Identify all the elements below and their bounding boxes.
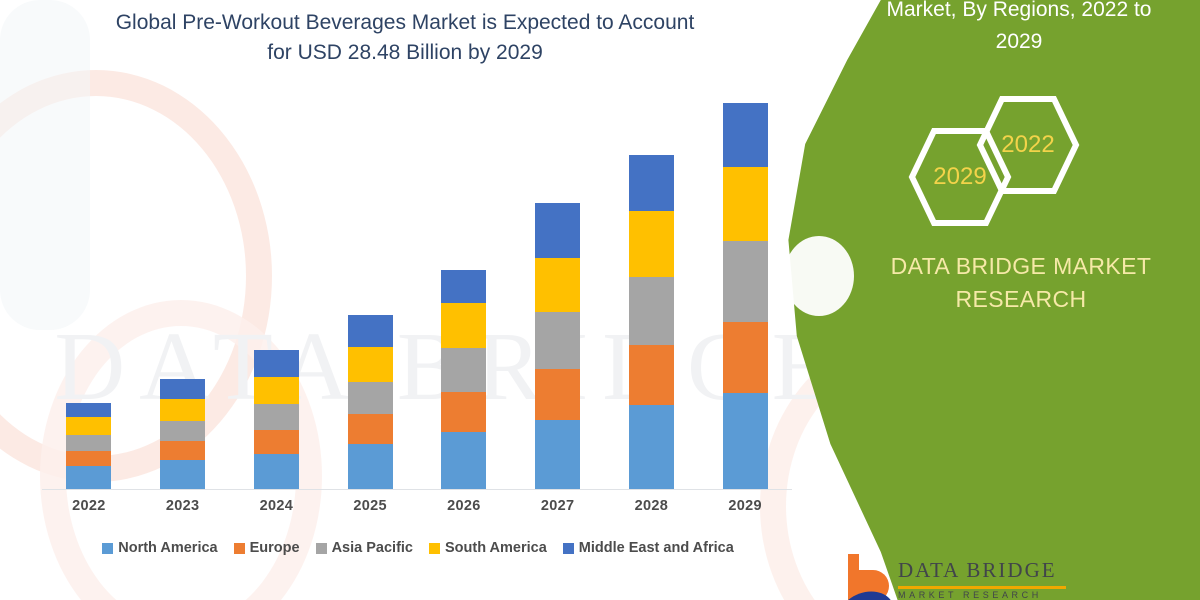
bar-segment (348, 444, 393, 489)
panel-heading: Market, By Regions, 2022 to 2029 (854, 0, 1184, 57)
bar-column (136, 100, 230, 489)
legend-swatch-icon (234, 543, 245, 554)
legend-item-label: Europe (250, 540, 300, 556)
bar-group (42, 100, 792, 489)
stacked-bar (535, 203, 580, 489)
hexagon-badge-2029: 2029 (908, 127, 1012, 227)
bar-segment (160, 379, 205, 399)
bar-segment (66, 466, 111, 489)
stacked-bar (254, 350, 299, 489)
hexagon-badge-2022-label: 2022 (1001, 131, 1054, 159)
data-bridge-logo-icon (846, 554, 892, 600)
page-title-line-1: Global Pre-Workout Beverages Market is E… (40, 8, 770, 38)
x-axis-label: 2024 (230, 498, 324, 514)
bar-segment (629, 405, 674, 489)
bar-column (417, 100, 511, 489)
chart-infographic: DATA BRIDGE MARKET RESEARCH Global Pre-W… (0, 0, 1200, 600)
panel-white-accent (784, 236, 854, 316)
bar-segment (629, 345, 674, 405)
legend-item-label: South America (445, 540, 547, 556)
x-axis-line (42, 489, 792, 490)
bar-segment (254, 404, 299, 429)
stacked-bar (441, 270, 486, 489)
bar-column (605, 100, 699, 489)
x-axis-label: 2026 (417, 498, 511, 514)
bar-segment (723, 103, 768, 167)
panel-heading-line-2: 2029 (854, 26, 1184, 58)
bar-segment (441, 348, 486, 392)
footer-logo-text: DATA BRIDGE (898, 558, 1057, 583)
plot-area (42, 100, 792, 490)
x-axis-label: 2028 (605, 498, 699, 514)
bar-segment (535, 369, 580, 420)
legend-item-label: North America (118, 540, 217, 556)
bar-segment (254, 377, 299, 405)
bar-segment (66, 435, 111, 450)
x-axis-label: 2027 (511, 498, 605, 514)
legend-item-label: Middle East and Africa (579, 540, 734, 556)
panel-heading-line-1: Market, By Regions, 2022 to (854, 0, 1184, 26)
stacked-bar (723, 103, 768, 489)
bar-segment (723, 393, 768, 489)
panel-brand-line-1: DATA BRIDGE MARKET (856, 250, 1186, 283)
legend-item[interactable]: Asia Pacific (316, 540, 413, 556)
bar-segment (348, 414, 393, 444)
legend-item[interactable]: Middle East and Africa (563, 540, 734, 556)
page-title-line-2: for USD 28.48 Billion by 2029 (40, 38, 770, 68)
x-axis-label: 2029 (698, 498, 792, 514)
bar-segment (160, 399, 205, 421)
bar-segment (66, 417, 111, 435)
legend: North AmericaEuropeAsia PacificSouth Ame… (42, 540, 794, 556)
legend-swatch-icon (316, 543, 327, 554)
hexagon-badges: 2022 2029 (902, 95, 1122, 230)
bar-segment (723, 322, 768, 394)
bar-segment (535, 258, 580, 312)
x-axis-label: 2022 (42, 498, 136, 514)
bar-segment (348, 315, 393, 347)
bar-column (42, 100, 136, 489)
bar-segment (723, 167, 768, 242)
hexagon-badge-2029-label: 2029 (933, 163, 986, 191)
bar-column (230, 100, 324, 489)
bar-segment (254, 350, 299, 376)
legend-item[interactable]: North America (102, 540, 217, 556)
page-title: Global Pre-Workout Beverages Market is E… (40, 8, 770, 69)
bar-segment (348, 347, 393, 382)
footer-logo-rule (898, 586, 1066, 589)
stacked-bar (348, 315, 393, 489)
panel-brand-line-2: RESEARCH (856, 283, 1186, 316)
bar-segment (160, 421, 205, 441)
legend-swatch-icon (563, 543, 574, 554)
bar-column (698, 100, 792, 489)
panel-brand-name: DATA BRIDGE MARKET RESEARCH (856, 250, 1186, 317)
bar-segment (629, 277, 674, 345)
legend-swatch-icon (102, 543, 113, 554)
bar-segment (441, 392, 486, 432)
x-axis-labels: 20222023202420252026202720282029 (42, 498, 792, 514)
x-axis-label: 2025 (323, 498, 417, 514)
bar-segment (723, 241, 768, 321)
bar-segment (629, 211, 674, 277)
legend-item-label: Asia Pacific (332, 540, 413, 556)
bar-segment (160, 441, 205, 461)
bar-segment (629, 155, 674, 211)
bar-segment (348, 382, 393, 414)
legend-swatch-icon (429, 543, 440, 554)
bar-segment (254, 454, 299, 489)
footer-logo: DATA BRIDGE MARKET RESEARCH (840, 550, 1100, 600)
x-axis-label: 2023 (136, 498, 230, 514)
bar-segment (441, 270, 486, 303)
bar-segment (254, 430, 299, 454)
stacked-bar (629, 155, 674, 489)
bar-segment (535, 420, 580, 489)
bar-segment (535, 203, 580, 258)
bar-segment (441, 303, 486, 348)
legend-item[interactable]: South America (429, 540, 547, 556)
stacked-bar (160, 379, 205, 489)
bar-segment (535, 312, 580, 369)
bar-column (511, 100, 605, 489)
bar-segment (441, 432, 486, 489)
bar-segment (66, 403, 111, 417)
bar-column (323, 100, 417, 489)
bar-segment (160, 460, 205, 489)
stacked-bar (66, 403, 111, 489)
footer-logo-subtext: MARKET RESEARCH (898, 590, 1042, 600)
bar-segment (66, 451, 111, 466)
legend-item[interactable]: Europe (234, 540, 300, 556)
